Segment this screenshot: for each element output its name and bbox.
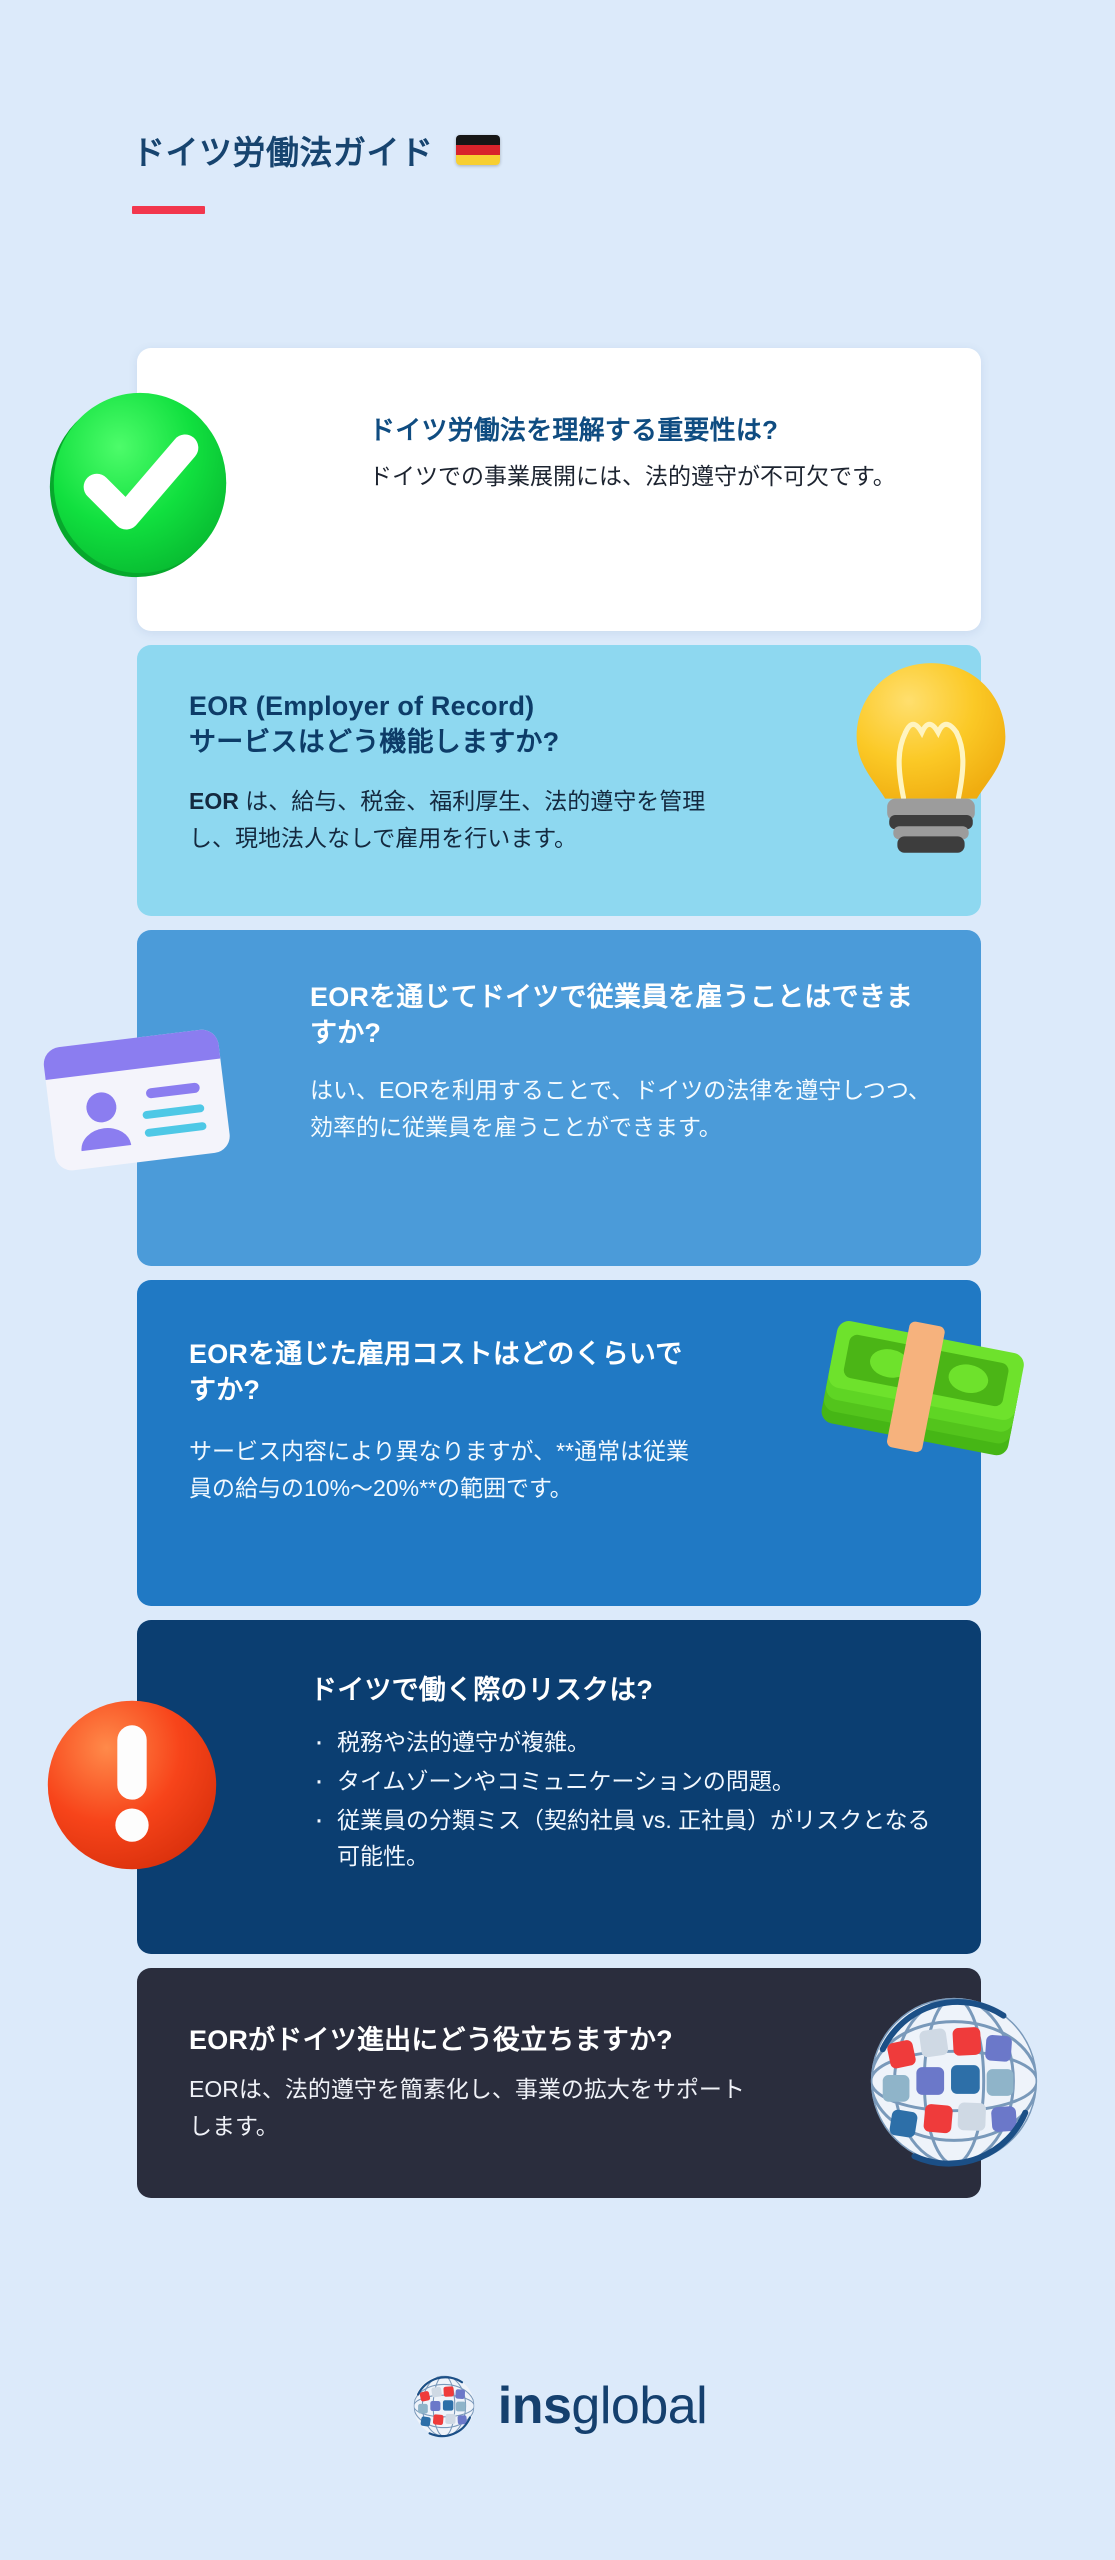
infographic-page: ドイツ労働法ガイド (0, 0, 1115, 2560)
logo-wordmark: insglobal (498, 2380, 707, 2432)
card-eor-expansion[interactable]: EORがドイツ進出にどう役立ちますか? EORは、法的遵守を簡素化し、事業の拡大… (137, 1968, 981, 2198)
title-accent-rule (132, 206, 205, 214)
card-heading: EOR (Employer of Record) サービスはどう機能しますか? (189, 689, 711, 761)
list-item: タイムゾーンやコミュニケーションの問題。 (310, 1764, 936, 1800)
card-heading-line-1: EOR (Employer of Record) (189, 689, 711, 725)
footer-logo: insglobal (0, 2370, 1115, 2442)
card-heading: EORがドイツ進出にどう役立ちますか? (189, 2018, 751, 2057)
insglobal-globe-logo-icon (408, 2370, 480, 2442)
risk-bullet-list: 税務や法的遵守が複雑。 タイムゾーンやコミュニケーションの問題。 従業員の分類ミ… (310, 1725, 936, 1875)
card-text-emphasis: EOR (189, 788, 239, 814)
logo-wordmark-bold: ins (498, 2377, 572, 2435)
header-row: ドイツ労働法ガイド (132, 126, 992, 174)
card-heading: ドイツで働く際のリスクは? (310, 1668, 936, 1707)
card-heading: ドイツ労働法を理解する重要性は? (369, 410, 926, 447)
card-text: サービス内容により異なりますが、**通常は従業員の給与の10%〜20%**の範囲… (189, 1433, 691, 1508)
list-item: 従業員の分類ミス（契約社員 vs. 正社員）がリスクとなる可能性。 (310, 1803, 936, 1875)
card-text: EOR は、給与、税金、福利厚生、法的遵守を管理し、現地法人なしで雇用を行います… (189, 783, 711, 858)
card-body: ドイツ労働法を理解する重要性は? ドイツでの事業展開には、法的遵守が不可欠です。 (137, 348, 981, 495)
card-body: EORを通じた雇用コストはどのくらいですか? サービス内容により異なりますが、*… (137, 1280, 981, 1507)
page-title: ドイツ労働法ガイド (132, 126, 434, 174)
card-heading: EORを通じてドイツで従業員を雇うことはできますか? (310, 980, 936, 1052)
list-item: 税務や法的遵守が複雑。 (310, 1725, 936, 1761)
card-heading: EORを通じた雇用コストはどのくらいですか? (189, 1336, 691, 1409)
card-body: EOR (Employer of Record) サービスはどう機能しますか? … (137, 645, 981, 857)
card-text: はい、EORを利用することで、ドイツの法律を遵守しつつ、効率的に従業員を雇うこと… (310, 1072, 936, 1147)
card-heading-line-2: サービスはどう機能しますか? (189, 725, 711, 761)
card-body: ドイツで働く際のリスクは? 税務や法的遵守が複雑。 タイムゾーンやコミュニケーシ… (137, 1620, 981, 1875)
card-text: ドイツでの事業展開には、法的遵守が不可欠です。 (369, 458, 926, 495)
german-flag-icon (456, 135, 500, 165)
card-stack: ドイツ労働法を理解する重要性は? ドイツでの事業展開には、法的遵守が不可欠です。 (0, 348, 1115, 2212)
card-risks[interactable]: ドイツで働く際のリスクは? 税務や法的遵守が複雑。 タイムゾーンやコミュニケーシ… (137, 1620, 981, 1954)
card-eor-how-it-works[interactable]: EOR (Employer of Record) サービスはどう機能しますか? … (137, 645, 981, 916)
card-text-rest: は、給与、税金、福利厚生、法的遵守を管理し、現地法人なしで雇用を行います。 (189, 788, 705, 851)
card-hiring-cost[interactable]: EORを通じた雇用コストはどのくらいですか? サービス内容により異なりますが、*… (137, 1280, 981, 1606)
card-text: EORは、法的遵守を簡素化し、事業の拡大をサポートします。 (189, 2071, 751, 2146)
logo-wordmark-light: global (571, 2377, 707, 2435)
card-hire-through-eor[interactable]: EORを通じてドイツで従業員を雇うことはできますか? はい、EORを利用すること… (137, 930, 981, 1266)
card-body: EORを通じてドイツで従業員を雇うことはできますか? はい、EORを利用すること… (137, 930, 981, 1146)
card-body: EORがドイツ進出にどう役立ちますか? EORは、法的遵守を簡素化し、事業の拡大… (137, 1968, 981, 2146)
header: ドイツ労働法ガイド (132, 126, 992, 214)
card-importance[interactable]: ドイツ労働法を理解する重要性は? ドイツでの事業展開には、法的遵守が不可欠です。 (137, 348, 981, 631)
